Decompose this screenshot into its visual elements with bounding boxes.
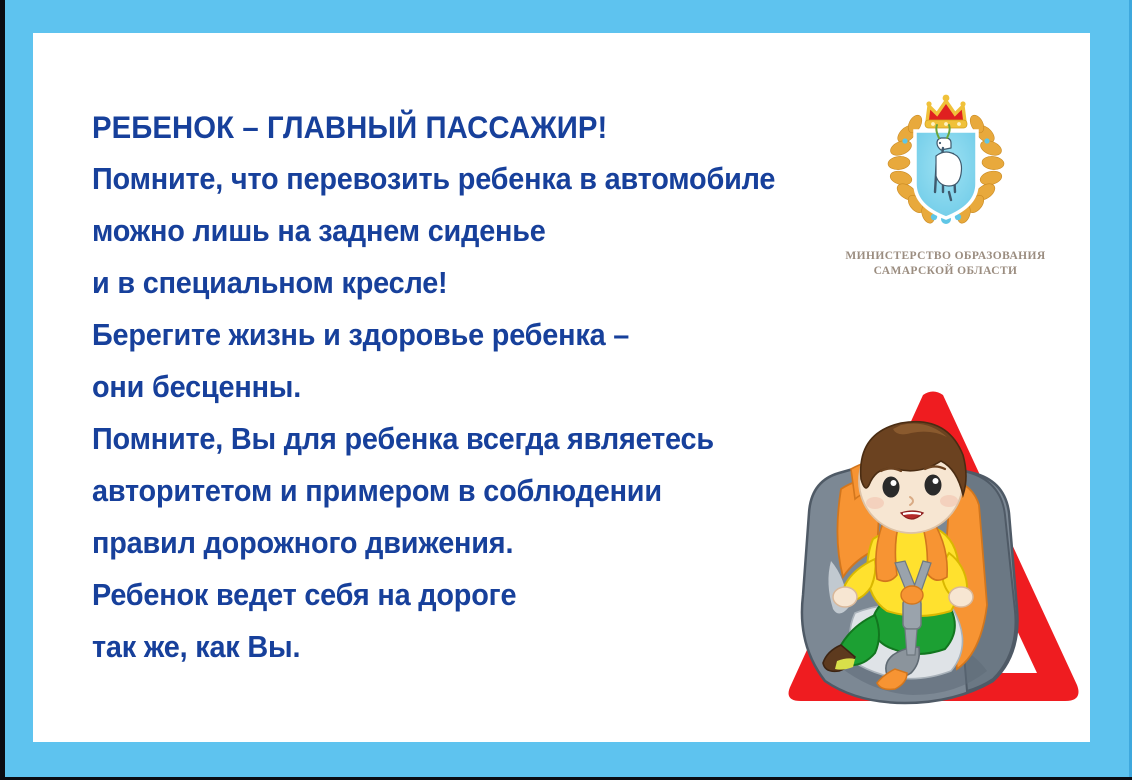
message-line-7: авторитетом и примером в соблюдении — [92, 465, 771, 517]
message-line-4: Берегите жизнь и здоровье ребенка – — [92, 309, 771, 361]
crown-part — [925, 95, 967, 128]
message-line-6: Помните, Вы для ребенка всегда являетесь — [92, 413, 771, 465]
message-line-8: правил дорожного движения. — [92, 517, 771, 569]
coat-of-arms-samara-oblast-icon — [881, 88, 1011, 248]
message-line-2: можно лишь на заднем сиденье — [92, 205, 771, 257]
emblem-caption-line-1: МИНИСТЕРСТВО ОБРАЗОВАНИЯ — [838, 249, 1053, 263]
car-seat-illustration — [705, 363, 1090, 733]
message-line-3: и в специальном кресле! — [92, 257, 771, 309]
message-line-5: они бесценны. — [92, 361, 771, 413]
message-line-9: Ребенок ведет себя на дороге — [92, 569, 771, 621]
poster-edge-left — [0, 0, 5, 780]
ministry-emblem: МИНИСТЕРСТВО ОБРАЗОВАНИЯ САМАРСКОЙ ОБЛАС… — [838, 88, 1053, 278]
poster-card: РЕБЕНОК – ГЛАВНЫЙ ПАССАЖИР! Помните, что… — [33, 33, 1090, 742]
message-line-1: Помните, что перевозить ребенка в автомо… — [92, 153, 771, 205]
poster-root: РЕБЕНОК – ГЛАВНЫЙ ПАССАЖИР! Помните, что… — [0, 0, 1132, 780]
emblem-caption-line-2: САМАРСКОЙ ОБЛАСТИ — [838, 264, 1053, 278]
page-title: РЕБЕНОК – ГЛАВНЫЙ ПАССАЖИР! — [92, 101, 771, 153]
message-line-10: так же, как Вы. — [92, 621, 771, 673]
child-in-car-seat-icon — [705, 363, 1090, 733]
